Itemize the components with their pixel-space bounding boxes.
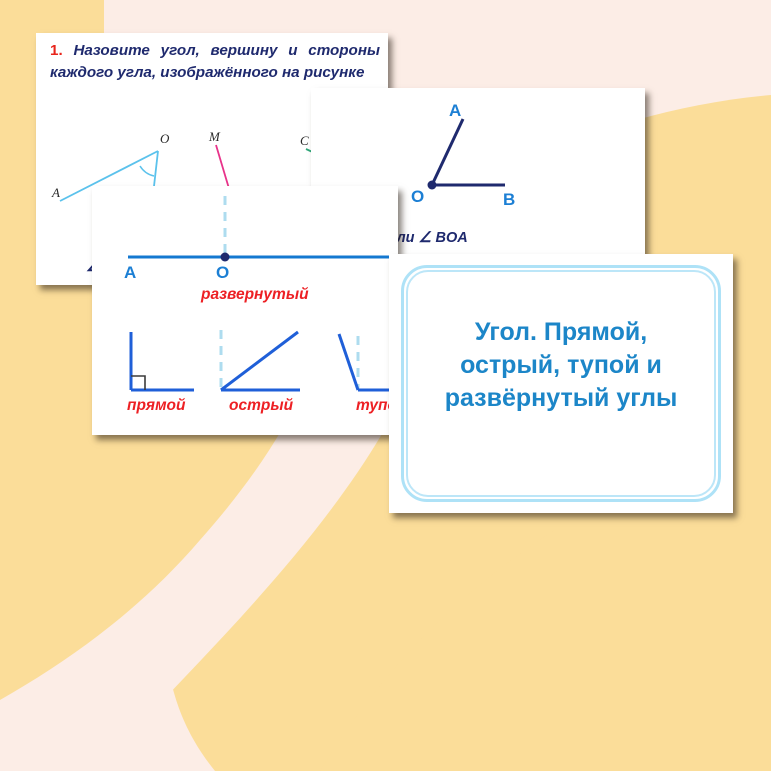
- figure-acute-angle: [221, 330, 300, 390]
- straight-angle-label-A: A: [124, 263, 136, 283]
- angle-types-figures: [92, 314, 398, 434]
- vertex-point-O: [428, 181, 437, 190]
- straight-angle-label-O: O: [216, 263, 229, 283]
- straight-angle-name: развернутый: [201, 286, 309, 304]
- slide-title-card[interactable]: Угол. Прямой, острый, тупой и развёрнуты…: [389, 254, 733, 513]
- aob-label-A: A: [449, 101, 461, 121]
- slide-collage: 1. Назовите угол, вершину и стороны кажд…: [0, 0, 771, 771]
- type-label-right: прямой: [127, 397, 185, 415]
- task-text-block: 1. Назовите угол, вершину и стороны кажд…: [50, 40, 380, 83]
- label-point-A: A: [51, 185, 60, 200]
- slide-angle-types-card[interactable]: ∠АО A O развернутый: [92, 186, 398, 435]
- title-heading: Угол. Прямой, острый, тупой и развёрнуты…: [423, 316, 699, 415]
- straight-angle-vertex: [221, 253, 230, 262]
- ray-OA: [432, 119, 463, 185]
- label-point-C: C: [300, 133, 309, 148]
- straight-angle-figure: [92, 186, 398, 296]
- label-point-M: M: [208, 129, 221, 144]
- figure-right-angle: [131, 332, 194, 390]
- task-number: 1.: [50, 42, 63, 59]
- type-label-acute: острый: [229, 397, 293, 415]
- task-statement: Назовите угол, вершину и стороны каждого…: [50, 42, 380, 81]
- aob-label-B: B: [503, 190, 515, 210]
- aob-label-O: O: [411, 187, 424, 207]
- label-point-O: O: [160, 131, 170, 146]
